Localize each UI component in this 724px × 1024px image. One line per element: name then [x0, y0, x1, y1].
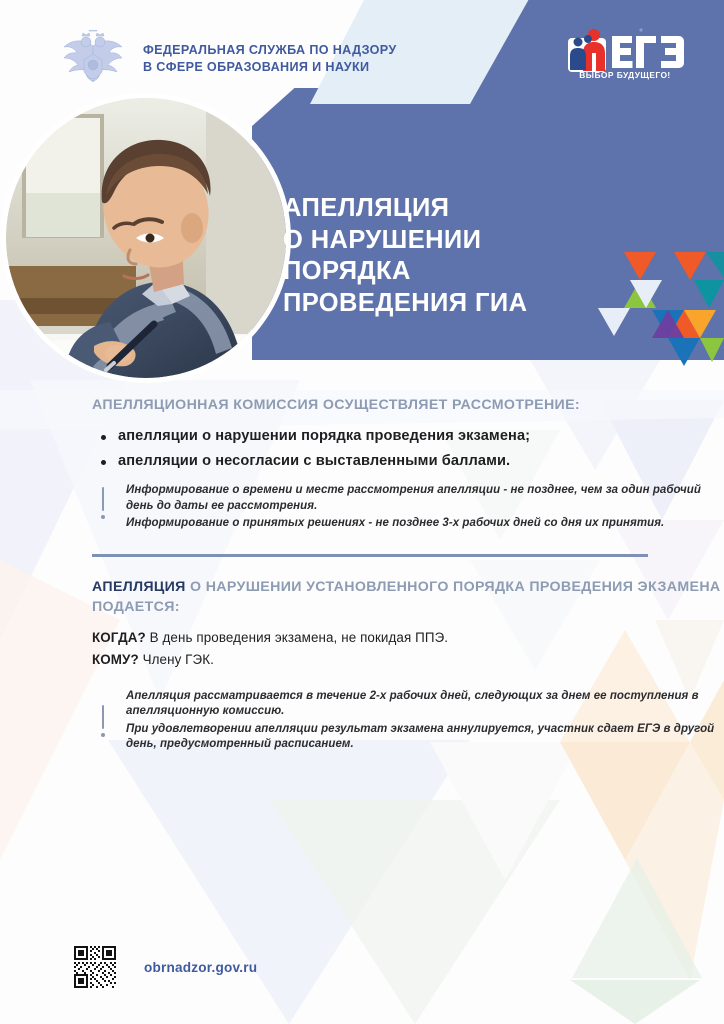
- russian-eagle-emblem-icon: [62, 30, 124, 85]
- triangle-mosaic-decoration: [596, 250, 724, 370]
- list-item: апелляции о несогласии с выставленными б…: [92, 453, 724, 469]
- page-title: АПЕЛЛЯЦИЯ О НАРУШЕНИИ ПОРЯДКА ПРОВЕДЕНИЯ…: [283, 193, 527, 319]
- qa-row: КОГДА? В день проведения экзамена, не по…: [92, 630, 724, 645]
- section2-heading-rest: О НАРУШЕНИИ УСТАНОВЛЕННОГО ПОРЯДКА ПРОВЕ…: [92, 579, 721, 615]
- section-commission: АПЕЛЛЯЦИОННАЯ КОМИССИЯ ОСУЩЕСТВЛЯЕТ РАСС…: [92, 395, 724, 532]
- list-item: апелляции о нарушении порядка проведения…: [92, 428, 724, 444]
- section2-note: Апелляция рассматривается в течение 2-х …: [92, 689, 724, 753]
- section2-heading: АПЕЛЛЯЦИЯ О НАРУШЕНИИ УСТАНОВЛЕННОГО ПОР…: [92, 577, 724, 617]
- qa-value: Члену ГЭК.: [139, 652, 214, 667]
- qa-block: КОГДА? В день проведения экзамена, не по…: [92, 630, 724, 667]
- exclamation-icon: [98, 487, 108, 523]
- page-header: ФЕДЕРАЛЬНАЯ СЛУЖБА ПО НАДЗОРУ В СФЕРЕ ОБ…: [0, 0, 724, 104]
- ege-tagline: ВЫБОР БУДУЩЕГО!: [566, 70, 684, 80]
- section2-heading-strong: АПЕЛЛЯЦИЯ: [92, 579, 186, 595]
- poster-root: ФЕДЕРАЛЬНАЯ СЛУЖБА ПО НАДЗОРУ В СФЕРЕ ОБ…: [0, 0, 724, 1024]
- commission-bullet-list: апелляции о нарушении порядка проведения…: [92, 428, 724, 469]
- note-line: Информирование о принятых решениях - не …: [126, 516, 724, 532]
- website-link[interactable]: obrnadzor.gov.ru: [144, 960, 257, 975]
- exclamation-icon: [98, 705, 108, 741]
- section-divider: [92, 554, 648, 557]
- note-line: Информирование о времени и месте рассмот…: [126, 483, 724, 514]
- section-appeal-submission: АПЕЛЛЯЦИЯ О НАРУШЕНИИ УСТАНОВЛЕННОГО ПОР…: [92, 577, 724, 753]
- note-line: Апелляция рассматривается в течение 2-х …: [126, 689, 724, 720]
- qa-row: КОМУ? Члену ГЭК.: [92, 652, 724, 667]
- agency-name: ФЕДЕРАЛЬНАЯ СЛУЖБА ПО НАДЗОРУ В СФЕРЕ ОБ…: [143, 42, 397, 76]
- section1-heading: АПЕЛЛЯЦИОННАЯ КОМИССИЯ ОСУЩЕСТВЛЯЕТ РАСС…: [92, 395, 724, 415]
- main-content: АПЕЛЛЯЦИОННАЯ КОМИССИЯ ОСУЩЕСТВЛЯЕТ РАСС…: [0, 395, 724, 755]
- footer: obrnadzor.gov.ru: [72, 944, 257, 990]
- qa-label: КОМУ?: [92, 652, 139, 667]
- student-photo: [6, 98, 286, 378]
- qa-value: В день проведения экзамена, не покидая П…: [146, 630, 448, 645]
- qa-label: КОГДА?: [92, 630, 146, 645]
- note-line: При удовлетворении апелляции результат э…: [126, 722, 724, 753]
- qr-code-icon[interactable]: [72, 944, 118, 990]
- section1-note: Информирование о времени и месте рассмот…: [92, 483, 724, 532]
